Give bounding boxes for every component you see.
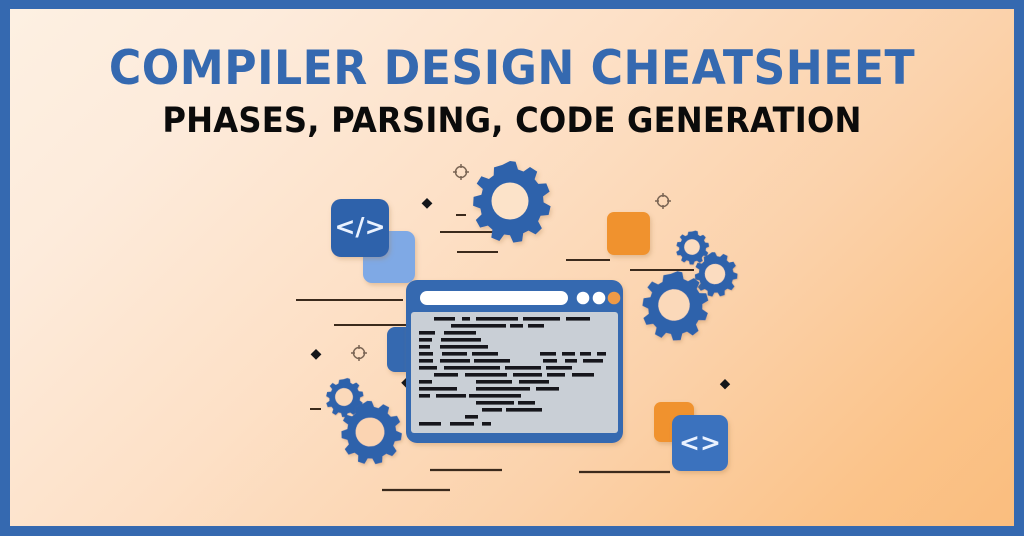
window-dot-white-1[interactable] bbox=[577, 292, 590, 305]
code-line-seg bbox=[536, 387, 559, 391]
code-line-seg bbox=[451, 324, 506, 328]
code-line-seg bbox=[513, 373, 542, 377]
code-line-seg bbox=[482, 422, 491, 426]
code-line-seg bbox=[444, 366, 500, 370]
code-line-seg bbox=[419, 394, 430, 398]
code-line-seg bbox=[440, 359, 470, 363]
code-line-seg bbox=[523, 317, 560, 321]
code-line-seg bbox=[566, 317, 590, 321]
page-title: COMPILER DESIGN CHEATSHEET bbox=[40, 45, 984, 92]
ring-marker bbox=[453, 164, 469, 180]
code-editor-window[interactable] bbox=[406, 280, 623, 443]
code-line-seg bbox=[476, 380, 512, 384]
heading-block: COMPILER DESIGN CHEATSHEET PHASES, PARSI… bbox=[10, 45, 1014, 139]
code-line-seg bbox=[434, 373, 458, 377]
code-badge-glyph: <> bbox=[679, 428, 721, 457]
address-bar[interactable] bbox=[420, 291, 568, 305]
code-line-seg bbox=[444, 331, 476, 335]
ring-marker bbox=[655, 193, 671, 209]
code-line-seg bbox=[476, 317, 518, 321]
code-line-seg bbox=[546, 366, 572, 370]
code-line-seg bbox=[562, 352, 575, 356]
code-line-seg bbox=[440, 345, 488, 349]
code-line-seg bbox=[442, 352, 467, 356]
code-line-seg bbox=[419, 366, 437, 370]
banner-frame: </> <> bbox=[0, 0, 1024, 536]
code-line-seg bbox=[469, 394, 521, 398]
code-line-seg bbox=[419, 352, 433, 356]
code-line-seg bbox=[583, 359, 603, 363]
code-line-seg bbox=[565, 359, 577, 363]
code-line-seg bbox=[597, 352, 606, 356]
code-line-seg bbox=[462, 317, 470, 321]
diamond-marker bbox=[311, 349, 322, 360]
page-subtitle: PHASES, PARSING, CODE GENERATION bbox=[50, 104, 974, 139]
code-line-seg bbox=[528, 324, 544, 328]
code-line-seg bbox=[419, 359, 433, 363]
code-line-seg bbox=[436, 394, 466, 398]
code-badge-glyph: </> bbox=[334, 212, 385, 241]
code-line-seg bbox=[419, 331, 435, 335]
code-line-seg bbox=[419, 380, 432, 384]
code-line-seg bbox=[547, 373, 565, 377]
window-dot-orange[interactable] bbox=[608, 292, 621, 305]
code-badge-top-left: </> bbox=[331, 199, 415, 283]
code-line-seg bbox=[472, 352, 498, 356]
code-line-seg bbox=[506, 408, 542, 412]
code-line-seg bbox=[476, 387, 530, 391]
code-badge-bottom-right: <> bbox=[672, 415, 728, 471]
code-line-seg bbox=[450, 422, 474, 426]
code-line-seg bbox=[543, 359, 557, 363]
orange-square-top bbox=[607, 212, 650, 255]
code-line-seg bbox=[465, 415, 478, 419]
code-line-seg bbox=[465, 373, 507, 377]
code-line-seg bbox=[434, 317, 455, 321]
code-line-seg bbox=[419, 422, 441, 426]
code-line-seg bbox=[476, 401, 514, 405]
code-line-seg bbox=[519, 380, 549, 384]
code-line-seg bbox=[419, 345, 430, 349]
code-line-seg bbox=[540, 352, 556, 356]
editor-content-area bbox=[411, 312, 618, 433]
code-line-seg bbox=[572, 373, 594, 377]
code-line-seg bbox=[482, 408, 502, 412]
gear-large-top bbox=[473, 161, 550, 243]
code-line-seg bbox=[474, 359, 510, 363]
code-line-seg bbox=[505, 366, 541, 370]
code-line-seg bbox=[510, 324, 523, 328]
diamond-marker bbox=[720, 379, 730, 389]
code-line-seg bbox=[580, 352, 591, 356]
diamond-marker bbox=[422, 198, 433, 209]
code-line-seg bbox=[419, 387, 457, 391]
code-line-seg bbox=[419, 338, 432, 342]
code-line-seg bbox=[518, 401, 535, 405]
code-line-seg bbox=[441, 338, 481, 342]
banner-canvas: </> <> bbox=[10, 9, 1014, 526]
ring-marker bbox=[351, 345, 367, 361]
window-dot-white-2[interactable] bbox=[593, 292, 606, 305]
